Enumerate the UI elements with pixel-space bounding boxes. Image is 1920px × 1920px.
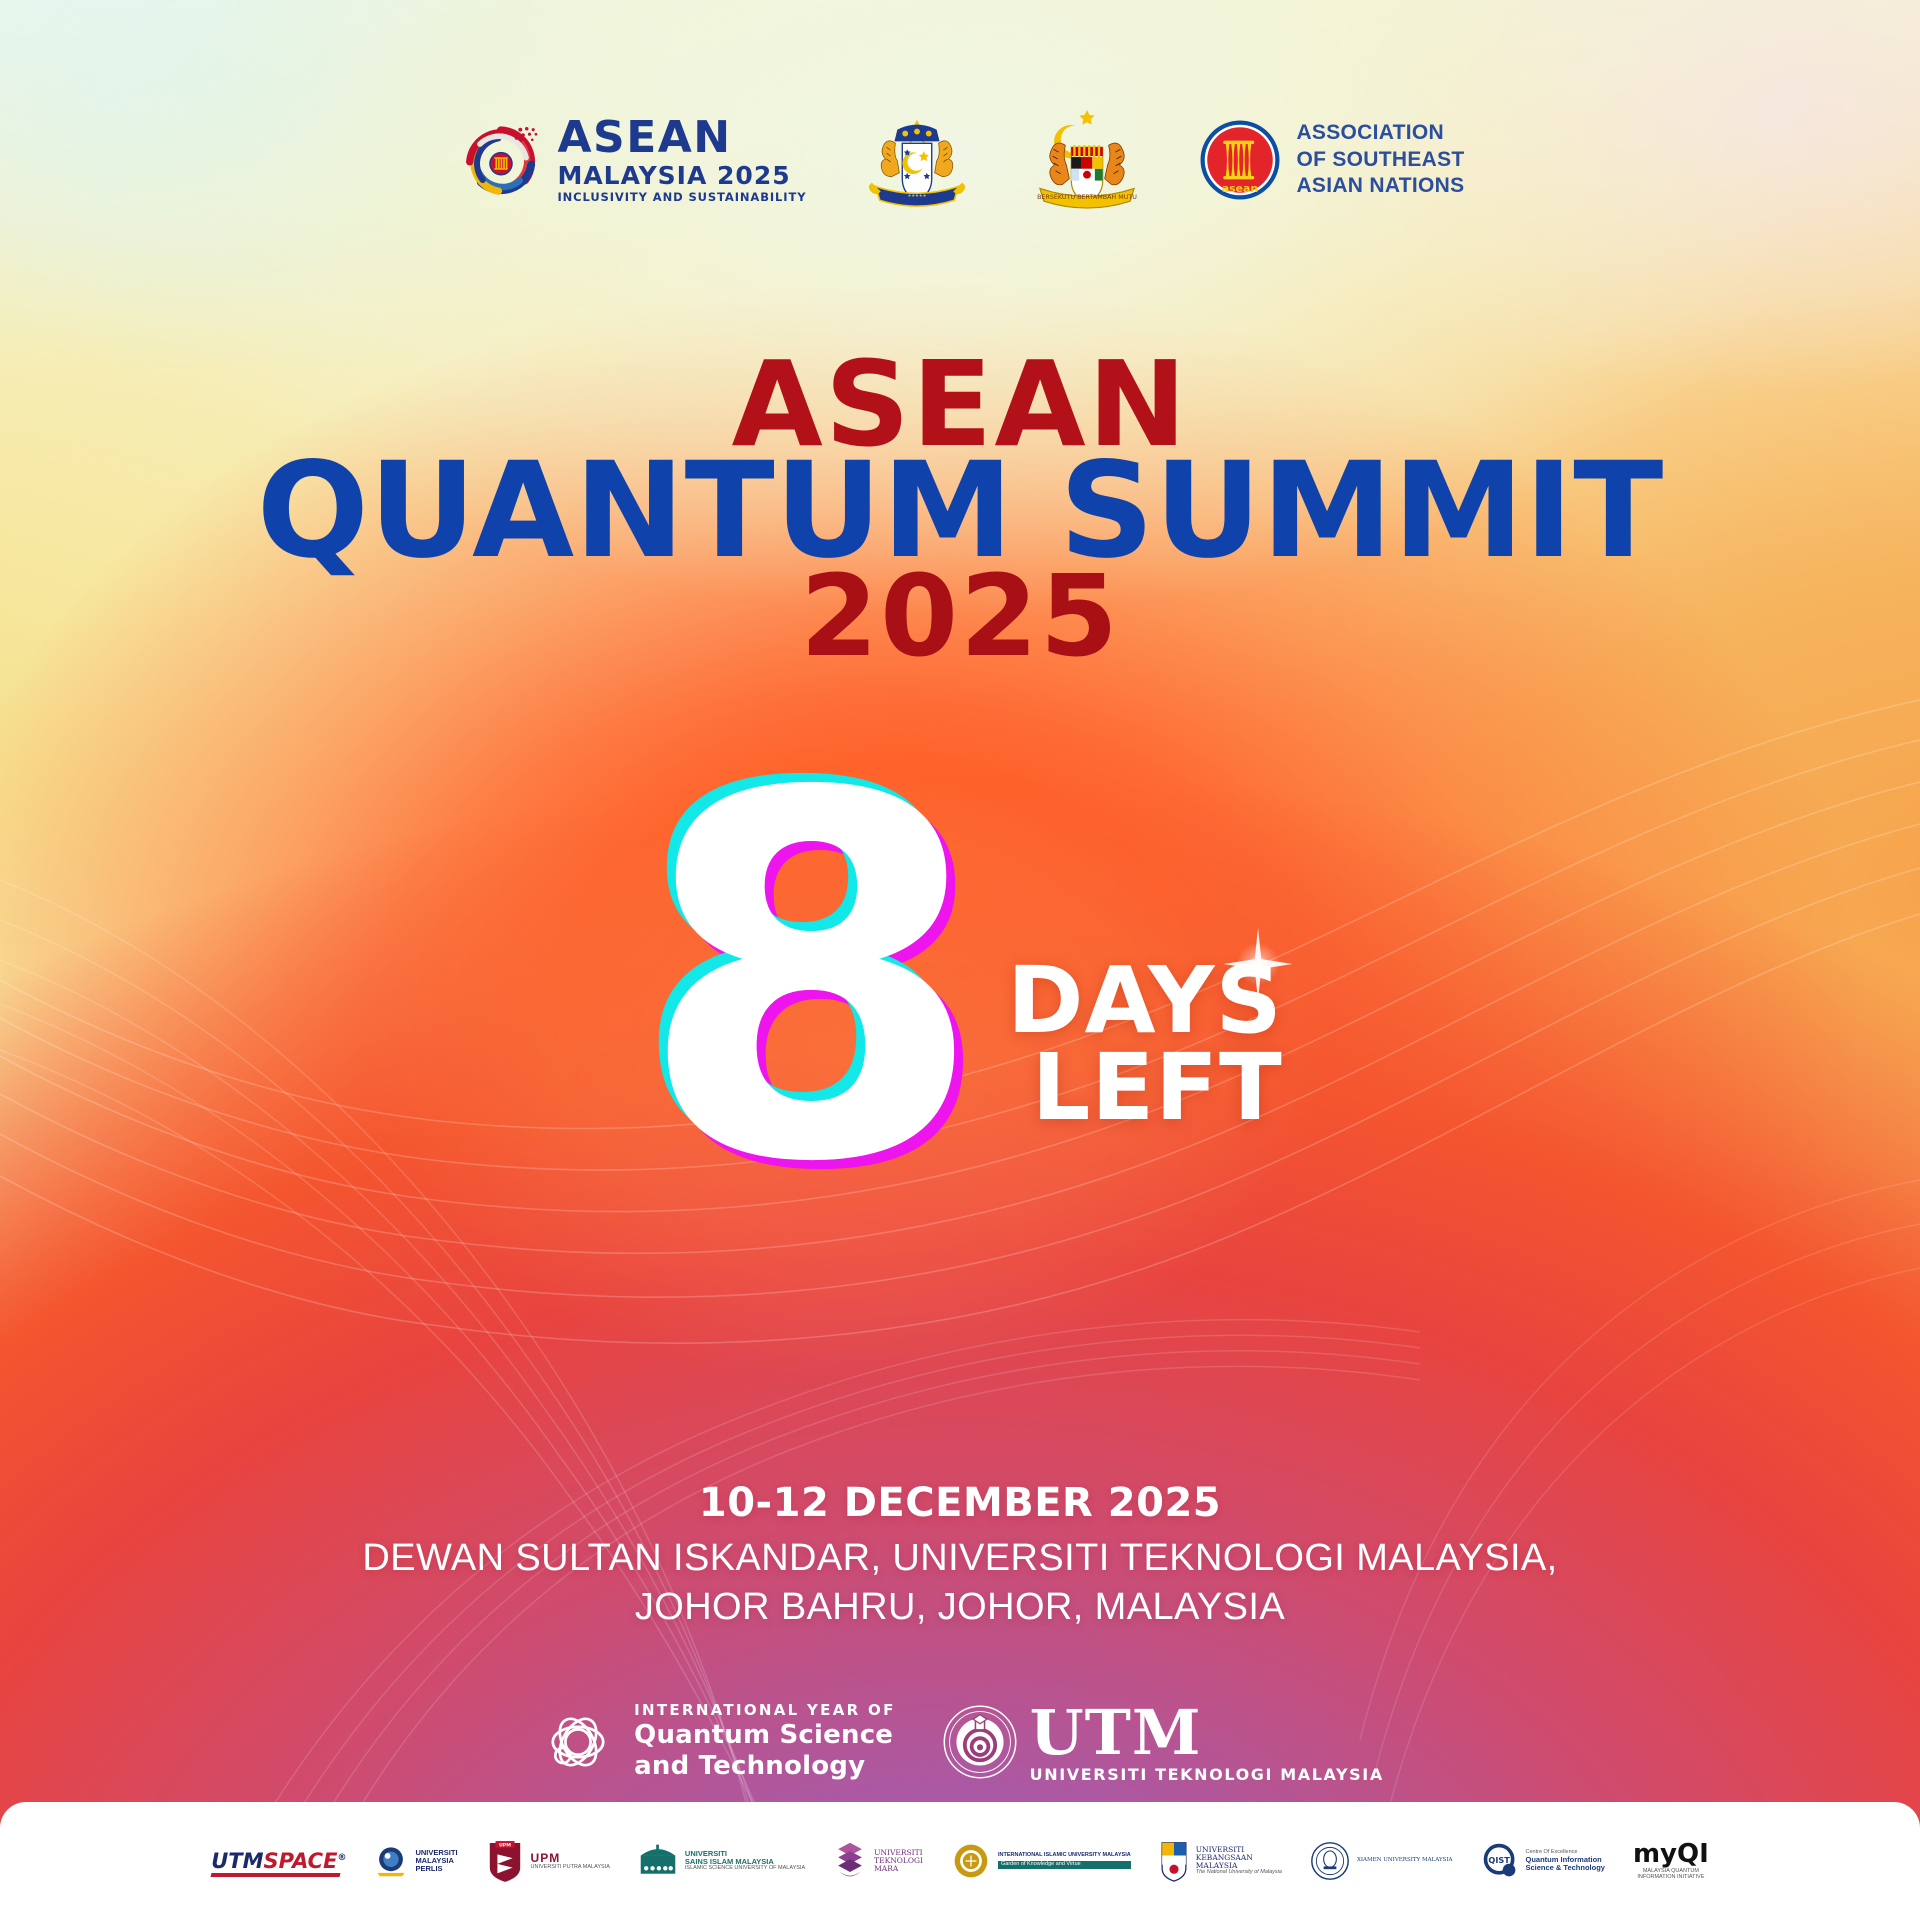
association-logo: asean ASSOCIATION OF SOUTHEAST ASIAN NAT… xyxy=(1198,118,1464,202)
utm-seal-icon xyxy=(942,1704,1018,1780)
countdown-number: 8 xyxy=(637,770,985,1200)
assoc-line2: OF SOUTHEAST xyxy=(1296,147,1464,173)
utm-full-name: UNIVERSITI TEKNOLOGI MALAYSIA xyxy=(1030,1767,1384,1783)
utm-acronym: UTM xyxy=(1030,1702,1384,1764)
partner-logo-strip: UTMSPACE® UNIVERSITI MALAYSIA PERLIS UPM xyxy=(0,1802,1920,1920)
asean-logo-tagline: INCLUSIVITY AND SUSTAINABILITY xyxy=(557,192,806,204)
partner-iium: INTERNATIONAL ISLAMIC UNIVERSITY MALAYSI… xyxy=(951,1825,1131,1897)
ukm-text: UNIVERSITI KEBANGSAAN MALAYSIA The Natio… xyxy=(1196,1846,1282,1876)
utm-wordmark: UTM UNIVERSITI TEKNOLOGI MALAYSIA xyxy=(1030,1702,1384,1783)
utmspace-underline xyxy=(211,1873,341,1877)
svg-text:UPM: UPM xyxy=(498,1843,510,1849)
unimap-icon xyxy=(374,1844,408,1878)
uitm-line-3: MARA xyxy=(874,1865,923,1873)
organiser-logo-row: INTERNATIONAL YEAR OF Quantum Science an… xyxy=(0,1700,1920,1784)
partner-usim: UNIVERSITI SAINS ISLAM MALAYSIA ISLAMIC … xyxy=(638,1825,805,1897)
iyq-line-1: Quantum Science xyxy=(634,1721,895,1750)
asean-logo-line2: MALAYSIA 2025 xyxy=(557,163,806,188)
myqi-mark: myQI xyxy=(1633,1841,1709,1867)
partner-ukm: UNIVERSITI KEBANGSAAN MALAYSIA The Natio… xyxy=(1159,1825,1282,1897)
event-title: ASEAN QUANTUM SUMMIT 2025 xyxy=(0,350,1920,669)
event-venue: DEWAN SULTAN ISKANDAR, UNIVERSITI TEKNOL… xyxy=(0,1534,1920,1631)
iyq-logo: INTERNATIONAL YEAR OF Quantum Science an… xyxy=(536,1700,895,1784)
partner-unimap: UNIVERSITI MALAYSIA PERLIS xyxy=(374,1825,457,1897)
partner-xiamen: XIAMEN UNIVERSITY MALAYSIA xyxy=(1310,1825,1453,1897)
header-logo-row: ASEAN MALAYSIA 2025 INCLUSIVITY AND SUST… xyxy=(0,108,1920,212)
partner-uitm: UNIVERSITI TEKNOLOGI MARA xyxy=(833,1825,923,1897)
xiamen-text: XIAMEN UNIVERSITY MALAYSIA xyxy=(1357,1858,1453,1864)
countdown-unit: DAYS LEFT xyxy=(1007,957,1283,1132)
iyq-line-2: and Technology xyxy=(634,1752,895,1781)
uitm-icon xyxy=(833,1840,867,1882)
uitm-text: UNIVERSITI TEKNOLOGI MARA xyxy=(874,1849,923,1873)
asean-swirl-icon xyxy=(455,114,547,206)
upm-shield-icon: UPM xyxy=(486,1839,524,1883)
association-name: ASSOCIATION OF SOUTHEAST ASIAN NATIONS xyxy=(1296,120,1464,199)
johor-coat-of-arms-icon: ٭٭٭٭٭ xyxy=(858,108,976,212)
iium-sub: Garden of Knowledge and Virtue xyxy=(998,1861,1131,1869)
upm-text: UPM UNIVERSITI PUTRA MALAYSIA xyxy=(531,1852,610,1871)
svg-text:٭٭٭٭٭: ٭٭٭٭٭ xyxy=(908,191,927,199)
svg-text:QIST: QIST xyxy=(1488,1855,1510,1865)
iium-icon xyxy=(951,1841,991,1881)
upm-mark: UPM xyxy=(531,1852,610,1865)
event-date: 10-12 DECEMBER 2025 xyxy=(0,1480,1920,1526)
qist-icon: QIST xyxy=(1481,1842,1519,1880)
countdown-left-label: LEFT xyxy=(1032,1044,1283,1131)
utmspace-wordmark: UTMSPACE® xyxy=(211,1849,346,1873)
asean-emblem-icon: asean xyxy=(1198,118,1282,202)
iyq-small-line: INTERNATIONAL YEAR OF xyxy=(634,1702,895,1719)
iium-text: INTERNATIONAL ISLAMIC UNIVERSITY MALAYSI… xyxy=(998,1853,1131,1869)
countdown-poster: ASEAN MALAYSIA 2025 INCLUSIVITY AND SUST… xyxy=(0,0,1920,1920)
xiamen-seal-icon xyxy=(1310,1841,1350,1881)
venue-line-2: JOHOR BAHRU, JOHOR, MALAYSIA xyxy=(0,1583,1920,1632)
atom-orbit-icon xyxy=(536,1700,620,1784)
partner-upm: UPM UPM UNIVERSITI PUTRA MALAYSIA xyxy=(486,1825,610,1897)
partner-utmspace: UTMSPACE® xyxy=(211,1825,346,1897)
ukm-crest-icon xyxy=(1159,1840,1189,1882)
usim-text: UNIVERSITI SAINS ISLAM MALAYSIA ISLAMIC … xyxy=(685,1850,805,1872)
assoc-line3: ASIAN NATIONS xyxy=(1296,173,1464,199)
iium-line-1: INTERNATIONAL ISLAMIC UNIVERSITY MALAYSI… xyxy=(998,1853,1131,1859)
asean-malaysia-2025-logo: ASEAN MALAYSIA 2025 INCLUSIVITY AND SUST… xyxy=(455,114,806,206)
utmspace-accent: SPACE xyxy=(263,1849,337,1873)
upm-sub: UNIVERSITI PUTRA MALAYSIA xyxy=(531,1865,610,1871)
usim-sub: ISLAMIC SCIENCE UNIVERSITY OF MALAYSIA xyxy=(685,1866,805,1872)
myqi-line-2: INFORMATION INITIATIVE xyxy=(1633,1875,1709,1881)
svg-text:BERSEKUTU BERTAMBAH MUTU: BERSEKUTU BERTAMBAH MUTU xyxy=(1038,193,1138,201)
countdown-block: 8 DAYS LEFT xyxy=(0,770,1920,1200)
event-details: 10-12 DECEMBER 2025 DEWAN SULTAN ISKANDA… xyxy=(0,1480,1920,1631)
utm-logo: UTM UNIVERSITI TEKNOLOGI MALAYSIA xyxy=(942,1702,1384,1783)
utmspace-registered: ® xyxy=(337,1853,346,1863)
assoc-line1: ASSOCIATION xyxy=(1296,120,1464,146)
ukm-sub: The National University of Malaysia xyxy=(1196,1870,1282,1876)
asean-emblem-label: asean xyxy=(1222,182,1258,195)
unimap-text: UNIVERSITI MALAYSIA PERLIS xyxy=(415,1849,457,1873)
countdown-days-label: DAYS xyxy=(1007,957,1283,1044)
qist-line-3: Science & Technology xyxy=(1526,1864,1605,1872)
venue-line-1: DEWAN SULTAN ISKANDAR, UNIVERSITI TEKNOL… xyxy=(0,1534,1920,1583)
jata-negara-icon: BERSEKUTU BERTAMBAH MUTU xyxy=(1028,108,1146,212)
usim-icon xyxy=(638,1841,678,1881)
qist-text: Centre Of Excellence Quantum Information… xyxy=(1526,1850,1605,1872)
asean-logo-line1: ASEAN xyxy=(557,116,806,160)
unimap-line-3: PERLIS xyxy=(415,1865,457,1873)
partner-myqi: myQI MALAYSIA QUANTUM INFORMATION INITIA… xyxy=(1633,1825,1709,1897)
iyq-wordmark: INTERNATIONAL YEAR OF Quantum Science an… xyxy=(634,1702,895,1781)
myqi-text: myQI MALAYSIA QUANTUM INFORMATION INITIA… xyxy=(1633,1841,1709,1881)
utmspace-main: UTM xyxy=(211,1849,263,1873)
xiamen-line-1: XIAMEN UNIVERSITY MALAYSIA xyxy=(1357,1858,1453,1864)
partner-qist: QIST Centre Of Excellence Quantum Inform… xyxy=(1481,1825,1605,1897)
asean-malaysia-wordmark: ASEAN MALAYSIA 2025 INCLUSIVITY AND SUST… xyxy=(557,116,806,204)
